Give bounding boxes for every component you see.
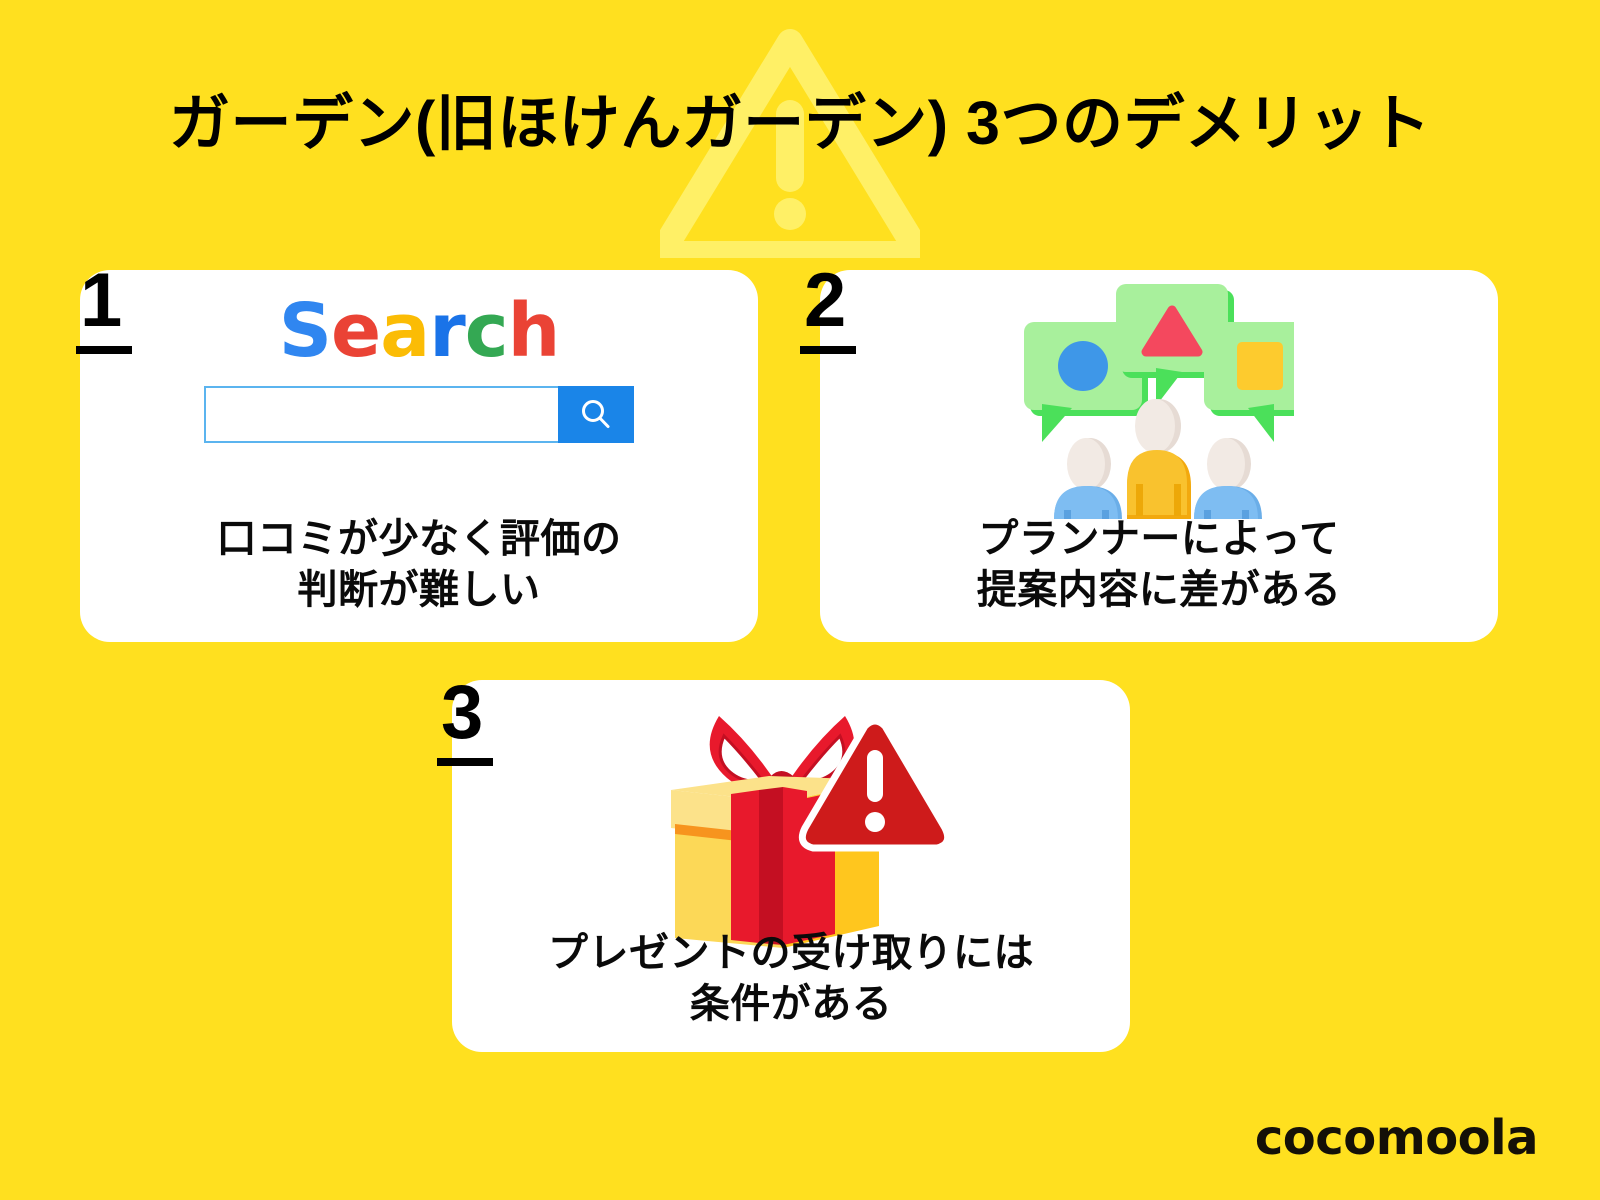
person-left — [1054, 438, 1122, 519]
search-engine-illustration: Search — [80, 294, 758, 443]
card-1-caption-line-2: 判断が難しい — [80, 565, 758, 616]
card-3-caption-line-2: 条件がある — [452, 979, 1130, 1030]
search-letter-c: c — [465, 288, 508, 374]
card-2-caption-line-2: 提案内容に差がある — [820, 565, 1498, 616]
people-discussion-illustration — [820, 284, 1498, 519]
card-3-caption-line-1: プレゼントの受け取りには — [452, 928, 1130, 979]
yellow-square-icon — [1237, 342, 1283, 390]
search-bar[interactable] — [204, 386, 634, 443]
cocomoola-logo: cocomoola — [1255, 1110, 1538, 1166]
card-2-caption: プランナーによって 提案内容に差がある — [820, 514, 1498, 616]
speech-bubble-right — [1204, 322, 1294, 442]
card-3-caption: プレゼントの受け取りには 条件がある — [452, 928, 1130, 1030]
search-letter-r: r — [429, 288, 465, 374]
card-2-caption-line-1: プランナーによって — [820, 514, 1498, 565]
demerit-card-3: プレゼントの受け取りには 条件がある — [452, 680, 1130, 1052]
demerit-card-2: プランナーによって 提案内容に差がある — [820, 270, 1498, 642]
search-letter-e: e — [331, 288, 380, 374]
search-letter-s: S — [279, 288, 331, 374]
person-right — [1194, 438, 1262, 519]
infographic-canvas: ガーデン(旧ほけんガーデン) 3つのデメリット Search 口コミが少なく評価… — [0, 0, 1600, 1200]
card-1-caption: 口コミが少なく評価の 判断が難しい — [80, 514, 758, 616]
search-letter-a: a — [380, 288, 429, 374]
demerit-card-1: Search 口コミが少なく評価の 判断が難しい — [80, 270, 758, 642]
search-letter-h: h — [508, 288, 560, 374]
magnifier-icon — [576, 395, 616, 435]
gift-box-illustration — [452, 698, 1130, 948]
blue-circle-icon — [1058, 341, 1108, 391]
card-1-caption-line-1: 口コミが少なく評価の — [80, 514, 758, 565]
person-center — [1127, 399, 1191, 519]
search-wordmark: Search — [80, 294, 758, 368]
search-input[interactable] — [204, 386, 558, 443]
page-title: ガーデン(旧ほけんガーデン) 3つのデメリット — [0, 88, 1600, 158]
search-button[interactable] — [558, 386, 634, 443]
